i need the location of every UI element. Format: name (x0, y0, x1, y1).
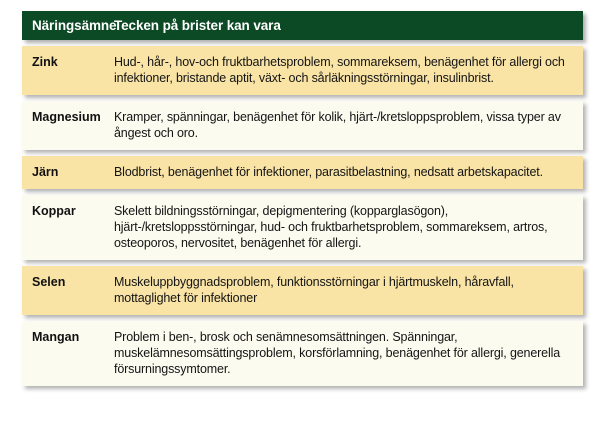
row-deficiency-signs: Skelett bildningsstörningar, depigmenter… (114, 203, 575, 251)
row-nutrient-name: Järn (22, 164, 114, 180)
row-nutrient-name: Koppar (22, 203, 114, 219)
row-deficiency-signs: Hud-, hår-, hov-och fruktbarhetsproblem,… (114, 54, 575, 86)
row-nutrient-name: Zink (22, 54, 114, 70)
row-nutrient-name: Selen (22, 274, 114, 290)
table-row: SelenMuskeluppbyggnadsproblem, funktions… (22, 266, 583, 315)
table-row: ZinkHud-, hår-, hov-och fruktbarhetsprob… (22, 46, 583, 95)
table-body: ZinkHud-, hår-, hov-och fruktbarhetsprob… (22, 46, 583, 392)
row-nutrient-name: Mangan (22, 329, 114, 345)
row-deficiency-signs: Muskeluppbyggnadsproblem, funktionsstörn… (114, 274, 575, 306)
row-deficiency-signs: Kramper, spänningar, benägenhet för koli… (114, 109, 575, 141)
column-header-nutrient: Näringsämne (22, 18, 114, 33)
table-header-bar: Näringsämne Tecken på brister kan vara (22, 11, 583, 40)
row-nutrient-name: Magnesium (22, 109, 114, 125)
row-deficiency-signs: Blodbrist, benägenhet för infektioner, p… (114, 164, 575, 180)
nutrient-deficiency-table: Näringsämne Tecken på brister kan vara Z… (0, 0, 604, 434)
table-row: MagnesiumKramper, spänningar, benägenhet… (22, 101, 583, 150)
table-row: JärnBlodbrist, benägenhet för infektione… (22, 156, 583, 189)
table-row: ManganProblem i ben-, brosk och senämnes… (22, 321, 583, 386)
row-deficiency-signs: Problem i ben-, brosk och senämnesomsätt… (114, 329, 575, 377)
column-header-signs: Tecken på brister kan vara (114, 18, 583, 33)
table-row: KopparSkelett bildningsstörningar, depig… (22, 195, 583, 260)
